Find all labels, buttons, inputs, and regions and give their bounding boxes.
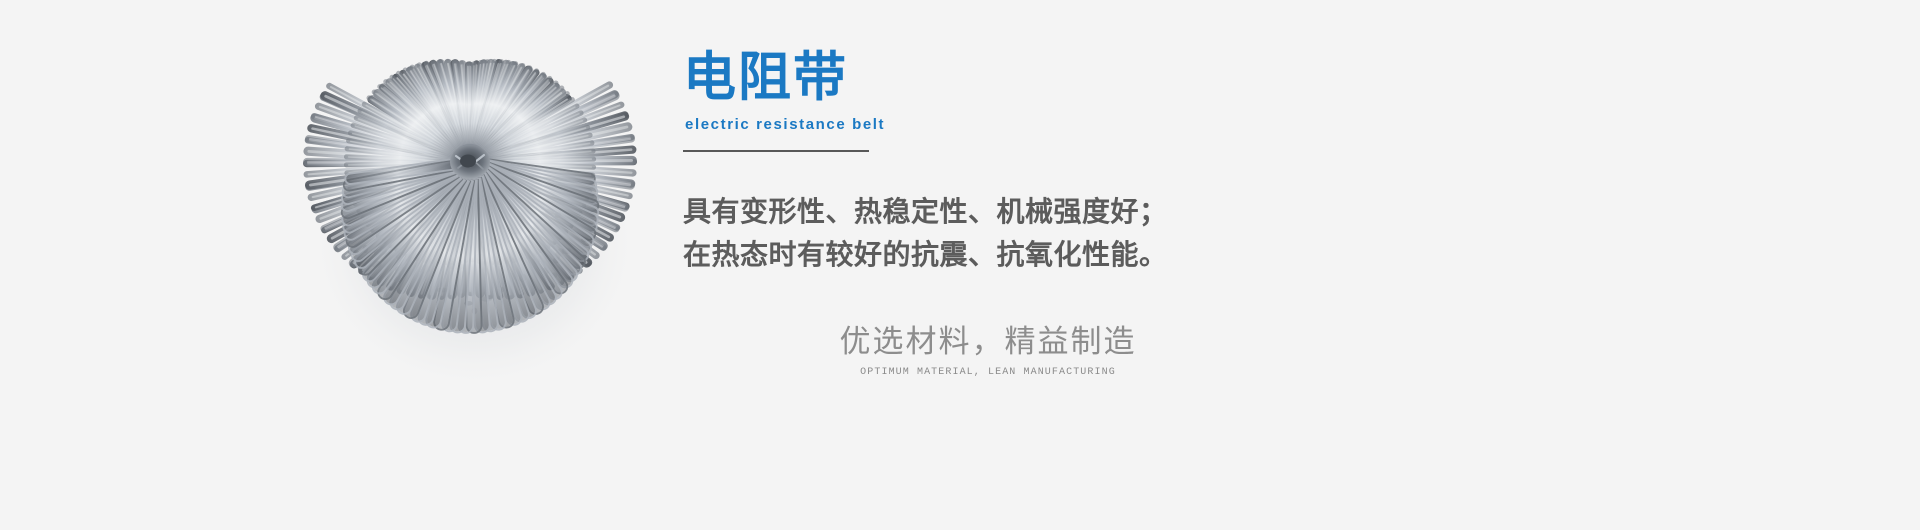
title-block: 电阻带 electric resistance belt bbox=[683, 48, 885, 152]
divider bbox=[683, 150, 869, 152]
slogan-english: OPTIMUM MATERIAL, LEAN MANUFACTURING bbox=[778, 366, 1198, 380]
description-line-1: 具有变形性、热稳定性、机械强度好； bbox=[683, 190, 1323, 233]
slogan-block: 优选材料，精益制造 OPTIMUM MATERIAL, LEAN MANUFAC… bbox=[778, 322, 1198, 380]
feature-description: 具有变形性、热稳定性、机械强度好； 在热态时有较好的抗震、抗氧化性能。 bbox=[683, 190, 1323, 276]
description-line-2: 在热态时有较好的抗震、抗氧化性能。 bbox=[683, 233, 1323, 276]
content-column: 电阻带 electric resistance belt 具有变形性、热稳定性、… bbox=[683, 0, 1383, 530]
page-subtitle: electric resistance belt bbox=[685, 116, 885, 133]
product-banner: 电阻带 electric resistance belt 具有变形性、热稳定性、… bbox=[0, 0, 1920, 530]
product-image bbox=[292, 50, 652, 380]
slogan-chinese: 优选材料，精益制造 bbox=[778, 322, 1198, 362]
page-title: 电阻带 bbox=[683, 48, 885, 108]
